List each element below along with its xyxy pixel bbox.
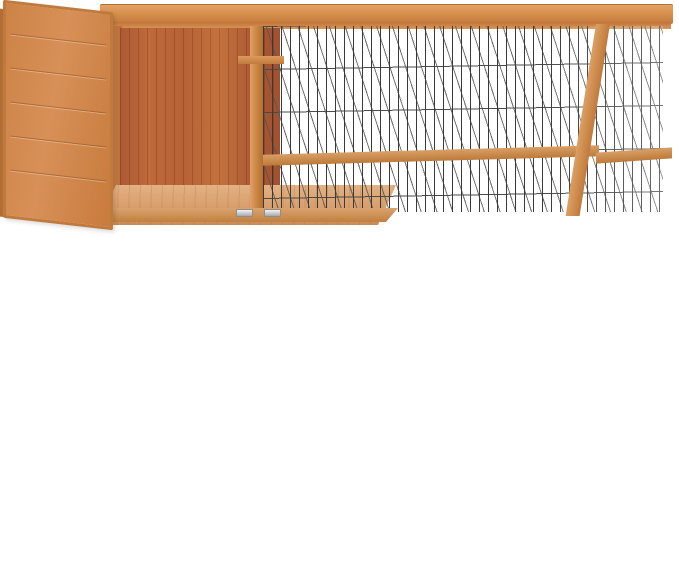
door-slat [10,34,106,46]
door-slat [10,170,106,182]
run-right-post [662,6,674,211]
product-infographic-page: NEWLY UPGRADED STRUCTURAL DESIGN TWO DOO… [0,0,679,574]
door-slat [10,68,106,80]
hero-product-image [0,0,679,250]
hinge-icon [236,209,253,217]
door-slat [10,136,106,148]
hinge-icon [264,209,281,217]
hutch-divider-post [250,26,263,212]
hutch-divider-crossbar [238,56,284,64]
open-wooden-door [3,0,113,230]
door-slat [10,102,106,114]
hutch-roof-beam [100,4,673,24]
